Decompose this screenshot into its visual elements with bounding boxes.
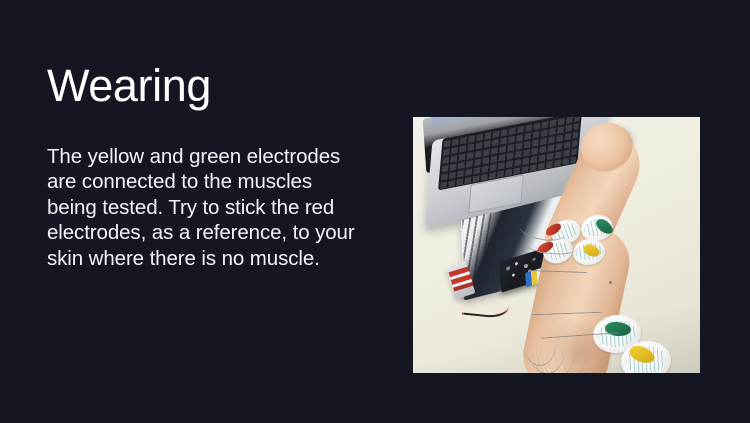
body-line: are connected to the muscles — [47, 169, 377, 194]
body-line: electrodes, as a reference, to your — [47, 220, 377, 245]
wire-bundle-strand — [557, 298, 647, 373]
presentation-slide: Wearing The yellow and green electrodes … — [0, 0, 750, 423]
slide-title: Wearing — [47, 60, 387, 112]
slide-body-text: The yellow and green electrodes are conn… — [47, 144, 377, 271]
skin-mark — [609, 281, 612, 284]
body-line: The yellow and green electrodes — [47, 144, 377, 169]
slide-text-column: Wearing The yellow and green electrodes … — [47, 60, 387, 271]
body-line: skin where there is no muscle. — [47, 246, 377, 271]
body-line: being tested. Try to stick the red — [47, 195, 377, 220]
setup-photograph — [413, 117, 700, 373]
